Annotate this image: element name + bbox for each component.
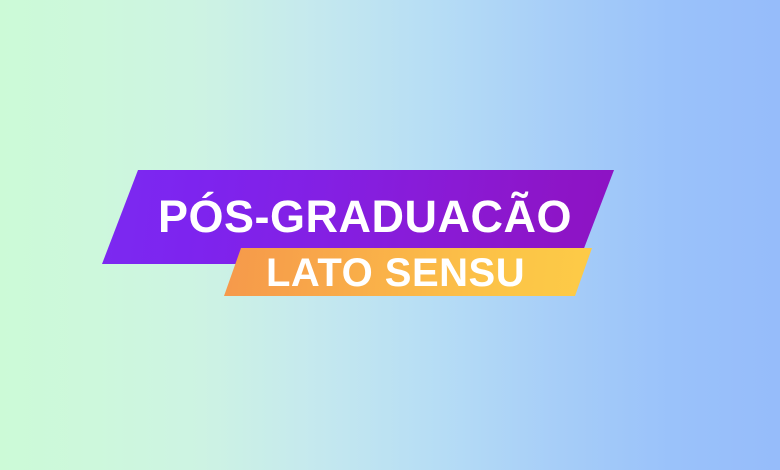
headline-primary-text: PÓS-GRADUACÃO [158,193,572,241]
accent-stripe-group [586,248,680,296]
banner-canvas: PÓS-GRADUACÃO LATO SENSU [0,0,780,470]
headline-secondary-text: LATO SENSU [266,252,525,294]
accent-stripe [611,248,628,296]
accent-stripe [661,248,678,296]
accent-stripe [586,248,603,296]
accent-stripe [636,248,653,296]
